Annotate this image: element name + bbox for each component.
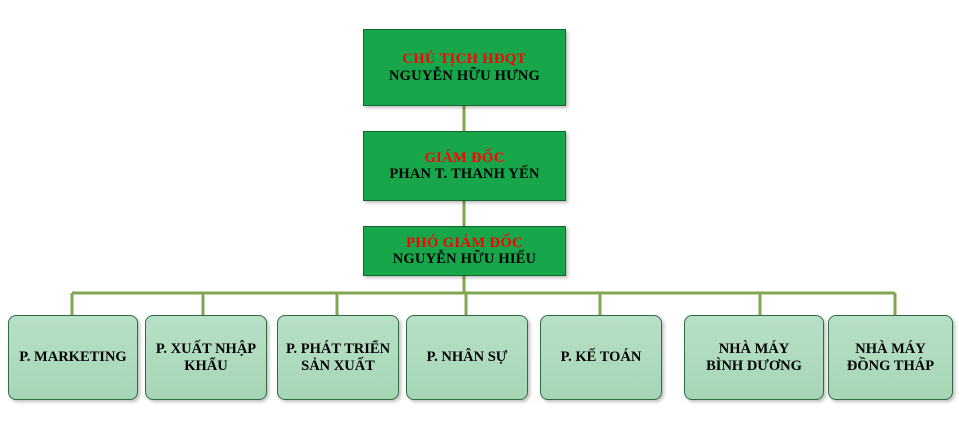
node-factory-binh-duong-label-line-1: NHÀ MÁY: [719, 341, 789, 357]
node-production-development[interactable]: P. PHÁT TRIỂN SẢN XUẤT: [277, 315, 399, 400]
node-deputy-director-name: NGUYỄN HỮU HIẾU: [393, 251, 536, 267]
node-human-resources[interactable]: P. NHÂN SỰ: [406, 315, 528, 400]
node-deputy-director-title: PHÓ GIÁM ĐỐC: [406, 235, 523, 251]
node-director-title: GIÁM ĐỐC: [424, 150, 504, 166]
node-chairman[interactable]: CHỦ TỊCH HĐQT NGUYỄN HỮU HƯNG: [363, 29, 566, 106]
node-factory-dong-thap[interactable]: NHÀ MÁY ĐỒNG THÁP: [828, 315, 953, 400]
node-import-export-label-line-2: KHẨU: [184, 358, 228, 374]
node-production-development-label-line-2: SẢN XUẤT: [301, 358, 375, 374]
node-factory-binh-duong[interactable]: NHÀ MÁY BÌNH DƯƠNG: [684, 315, 824, 400]
node-director-name: PHAN T. THANH YẾN: [389, 166, 539, 182]
node-chairman-title: CHỦ TỊCH HĐQT: [402, 51, 526, 67]
node-factory-dong-thap-label-line-2: ĐỒNG THÁP: [847, 358, 934, 374]
node-factory-binh-duong-label-line-2: BÌNH DƯƠNG: [706, 358, 802, 374]
org-chart: CHỦ TỊCH HĐQT NGUYỄN HỮU HƯNG GIÁM ĐỐC P…: [0, 0, 959, 423]
node-director[interactable]: GIÁM ĐỐC PHAN T. THANH YẾN: [363, 131, 566, 201]
node-import-export[interactable]: P. XUẤT NHẬP KHẨU: [145, 315, 267, 400]
node-deputy-director[interactable]: PHÓ GIÁM ĐỐC NGUYỄN HỮU HIẾU: [363, 226, 566, 276]
node-accounting-label-line-1: P. KẾ TOÁN: [561, 349, 642, 365]
node-accounting[interactable]: P. KẾ TOÁN: [540, 315, 662, 400]
node-marketing-label-line-1: P. MARKETING: [19, 349, 126, 365]
node-human-resources-label-line-1: P. NHÂN SỰ: [427, 349, 508, 365]
node-factory-dong-thap-label-line-1: NHÀ MÁY: [855, 341, 925, 357]
node-import-export-label-line-1: P. XUẤT NHẬP: [156, 341, 256, 357]
node-production-development-label-line-1: P. PHÁT TRIỂN: [286, 341, 390, 357]
node-marketing[interactable]: P. MARKETING: [8, 315, 138, 400]
node-chairman-name: NGUYỄN HỮU HƯNG: [389, 68, 540, 84]
